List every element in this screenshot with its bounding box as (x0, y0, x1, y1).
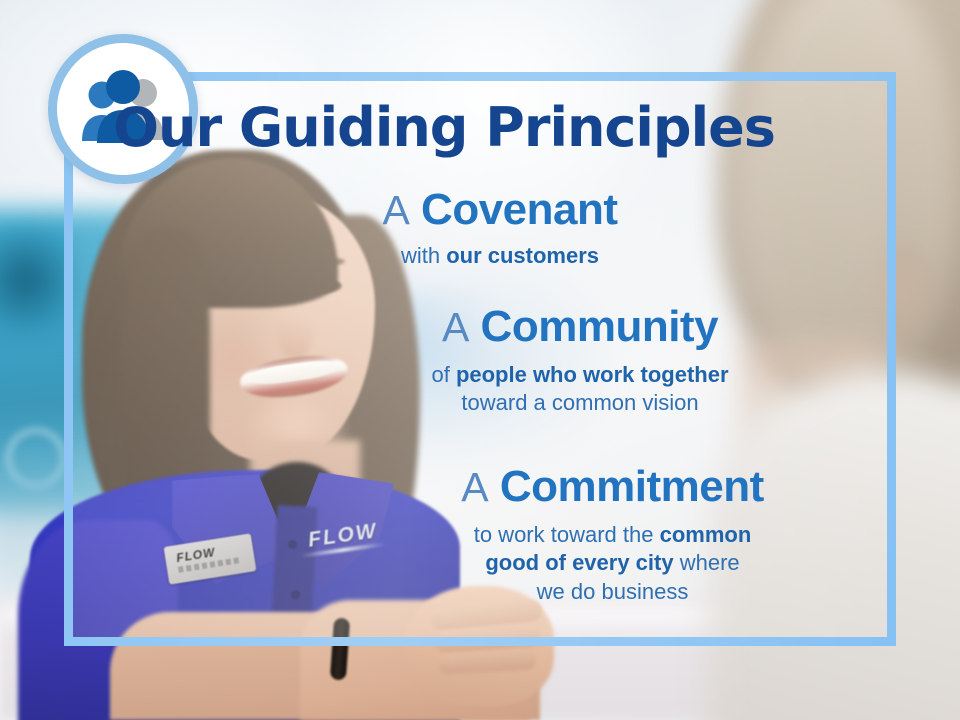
principle-community-heading: A Community (300, 305, 860, 350)
principle-commitment-heading: A Commitment (340, 465, 885, 510)
principle-commitment-word: Commitment (500, 462, 764, 511)
principle-commitment-body: to work toward the common good of every … (340, 521, 885, 607)
principle-covenant-article: A (382, 187, 409, 233)
principle-community-body: of people who work together toward a com… (300, 361, 860, 418)
principle-community-article: A (442, 304, 469, 350)
principle-commitment-line-2: good of every city where (340, 549, 885, 578)
principle-covenant: A Covenant with our customers (240, 188, 760, 270)
principle-community-line-1: of people who work together (300, 361, 860, 390)
principle-covenant-word: Covenant (421, 185, 617, 234)
principle-covenant-heading: A Covenant (240, 188, 760, 233)
principle-community: A Community of people who work together … (300, 305, 860, 418)
principle-covenant-body: with our customers (240, 242, 760, 271)
principle-covenant-line-1: with our customers (240, 242, 760, 271)
principle-commitment-line-1: to work toward the common (340, 521, 885, 550)
page-title: Our Guiding Principles (0, 96, 888, 159)
principle-community-line-2: toward a common vision (300, 389, 860, 418)
principle-commitment-line-3: we do business (340, 578, 885, 607)
banner-stage: FLOW FLOW O (0, 0, 960, 720)
principle-commitment: A Commitment to work toward the common g… (340, 465, 885, 607)
principles-text-block: Our Guiding Principles A Covenant with o… (0, 0, 960, 720)
principle-commitment-article: A (461, 464, 488, 510)
principle-community-word: Community (481, 302, 719, 351)
